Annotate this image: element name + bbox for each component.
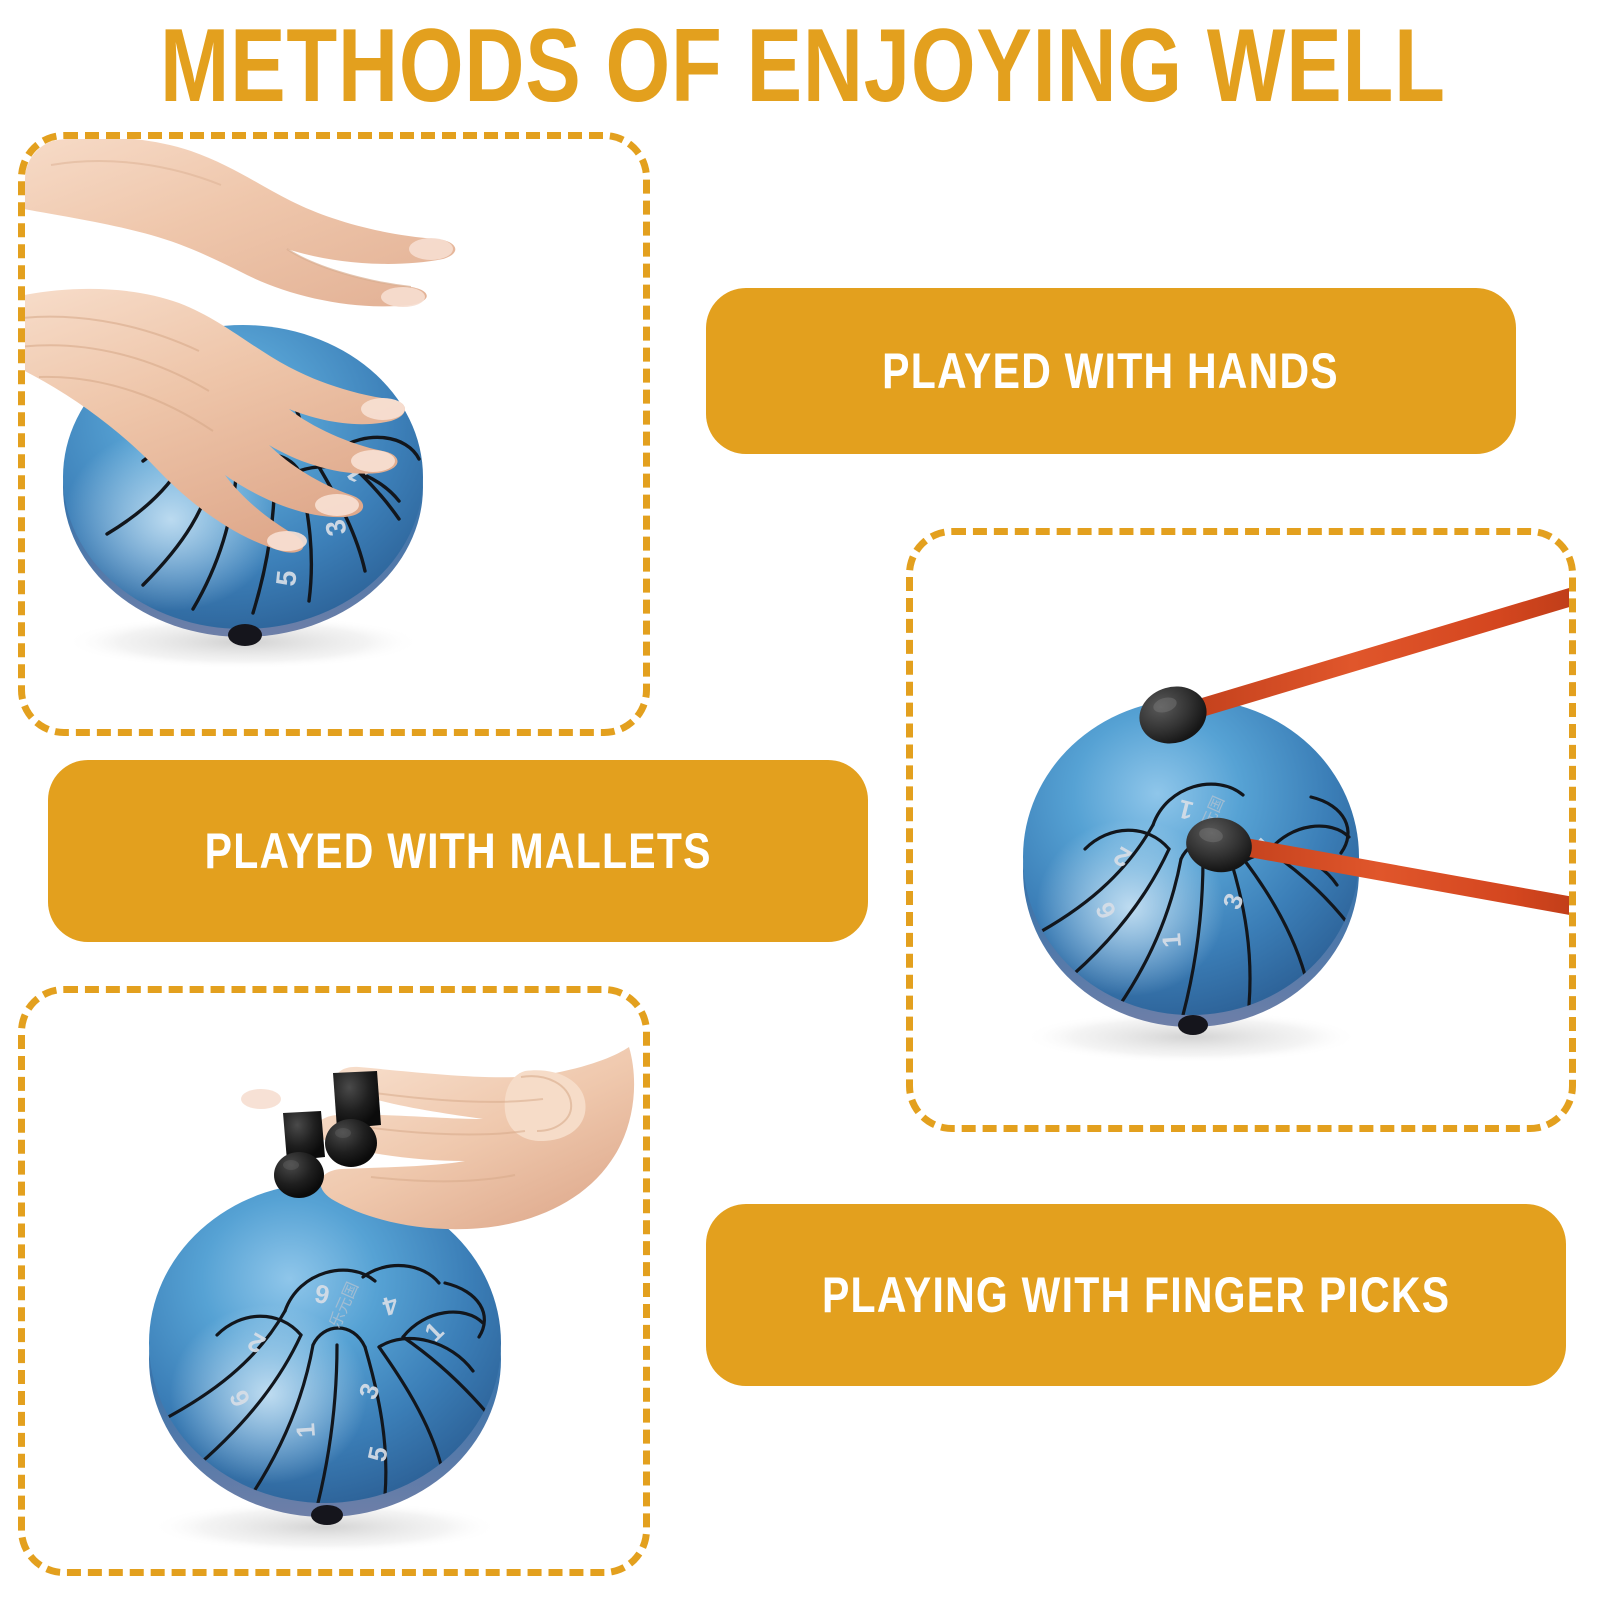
panel-played-with-hands: 4 1 3 5 乐元国	[18, 132, 650, 736]
panel-playing-with-finger-picks: 6 4 2 6 1 3 1 5 乐元国	[18, 986, 650, 1576]
svg-text:6: 6	[312, 1278, 332, 1310]
label-played-with-hands: PLAYED WITH HANDS	[706, 288, 1516, 454]
finger-pick-band-2	[274, 1111, 325, 1198]
svg-text:6: 6	[1089, 897, 1122, 923]
svg-text:2: 2	[1108, 841, 1136, 874]
svg-text:5: 5	[270, 569, 302, 588]
svg-text:2: 2	[242, 1327, 270, 1360]
label-playing-with-finger-picks: PLAYING WITH FINGER PICKS	[706, 1204, 1566, 1386]
hand-with-finger-picks	[225, 1015, 643, 1245]
panel-hands-image: 4 1 3 5 乐元国	[25, 139, 643, 729]
svg-text:6: 6	[223, 1385, 256, 1411]
svg-text:乐元国: 乐元国	[326, 1279, 362, 1330]
page-title: METHODS OF ENJOYING WELL	[160, 14, 1440, 118]
panel-mallets-image: 1 2 6 1 3 1 乐元国	[913, 535, 1569, 1125]
mallet-lower	[1189, 807, 1569, 947]
svg-text:1: 1	[1156, 932, 1187, 949]
svg-text:3: 3	[352, 1379, 385, 1403]
svg-text:1: 1	[290, 1422, 321, 1439]
svg-text:4: 4	[379, 1289, 402, 1322]
svg-text:1: 1	[418, 1316, 449, 1348]
label-played-with-hands-text: PLAYED WITH HANDS	[883, 346, 1340, 396]
hand-lower	[25, 251, 459, 551]
label-played-with-mallets: PLAYED WITH MALLETS	[48, 760, 868, 942]
svg-text:5: 5	[362, 1444, 394, 1464]
panel-played-with-mallets: 1 2 6 1 3 1 乐元国	[906, 528, 1576, 1132]
panel-picks-image: 6 4 2 6 1 3 1 5 乐元国	[25, 993, 643, 1569]
mallet-upper	[1143, 575, 1569, 755]
label-playing-with-finger-picks-text: PLAYING WITH FINGER PICKS	[822, 1270, 1450, 1320]
label-played-with-mallets-text: PLAYED WITH MALLETS	[204, 826, 711, 876]
